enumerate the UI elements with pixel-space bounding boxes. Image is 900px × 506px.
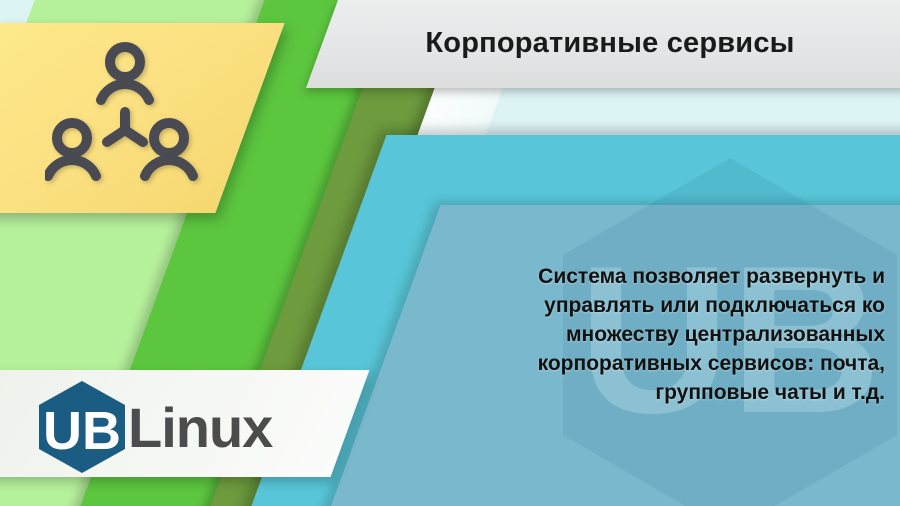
people-network-icon [45,38,205,198]
logo-wordmark: Linux [128,400,272,456]
page-title: Корпоративные сервисы [330,20,890,66]
brand-logo: UB Linux [36,379,272,475]
slide-canvas: UB Корпоративные сервисы Система позволя… [0,0,900,506]
ub-hexagon-icon: UB [36,379,128,475]
svg-text:UB: UB [43,401,121,461]
body-text: Система позволяет развернуть и управлять… [470,262,885,407]
